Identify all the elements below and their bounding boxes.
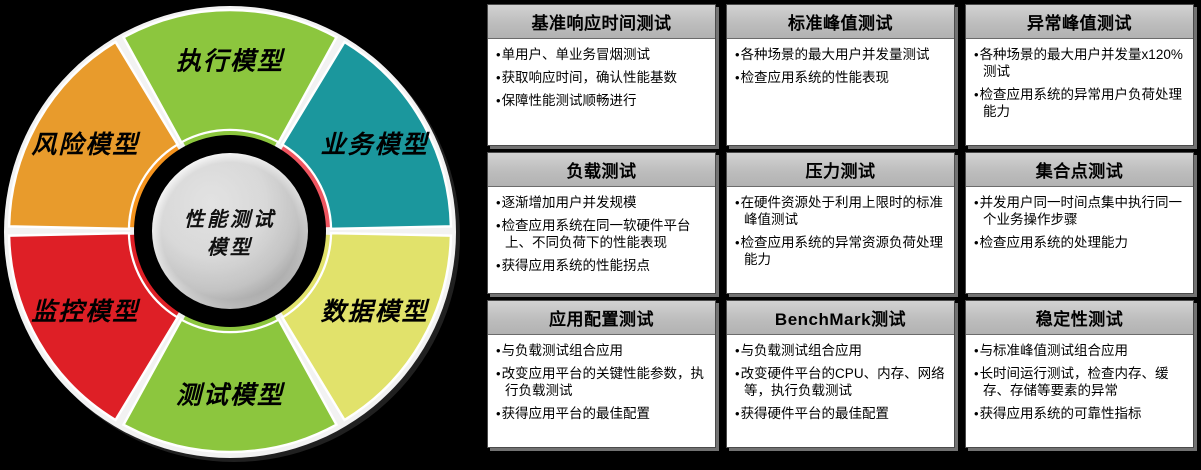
- donut-segment-label: 风险模型: [31, 131, 141, 159]
- card-body: 与负载测试组合应用改变应用平台的关键性能参数，执行负载测试获得应用平台的最佳配置: [488, 335, 715, 447]
- card-body: 各种场景的最大用户并发量x120%测试检查应用系统的异常用户负荷处理能力: [966, 39, 1193, 145]
- card-body: 在硬件资源处于利用上限时的标准峰值测试检查应用系统的异常资源负荷处理能力: [727, 187, 954, 293]
- card-title: BenchMark测试: [775, 305, 906, 330]
- core-label-line-1: 性能测试: [184, 208, 276, 231]
- donut-segment-label: 数据模型: [321, 298, 431, 326]
- card-header: BenchMark测试: [727, 301, 954, 335]
- card-bullet: 保障性能测试顺畅进行: [496, 92, 707, 109]
- card-bullet: 检查应用系统在同一软硬件平台上、不同负荷下的性能表现: [496, 217, 707, 251]
- card-title: 负载测试: [567, 157, 637, 182]
- card-header: 标准峰值测试: [727, 5, 954, 39]
- card-bullet: 获得应用平台的最佳配置: [496, 405, 707, 422]
- card-body: 单用户、单业务冒烟测试获取响应时间，确认性能基数保障性能测试顺畅进行: [488, 39, 715, 145]
- diagram-page: 性能测试 模型 执行模型业务模型数据模型测试模型监控模型风险模型 基准响应时间测…: [0, 0, 1201, 470]
- card-title: 基准响应时间测试: [532, 9, 672, 34]
- card-body: 逐渐增加用户并发规模检查应用系统在同一软硬件平台上、不同负荷下的性能表现获得应用…: [488, 187, 715, 293]
- card-title: 稳定性测试: [1036, 305, 1124, 330]
- card-bullet: 检查应用系统的性能表现: [735, 69, 946, 86]
- donut-core-shading: [152, 153, 308, 309]
- card-bullet: 逐渐增加用户并发规模: [496, 194, 707, 211]
- card-header: 集合点测试: [966, 153, 1193, 187]
- card-title: 标准峰值测试: [788, 9, 893, 34]
- card-bullet: 获取响应时间，确认性能基数: [496, 69, 707, 86]
- test-type-card[interactable]: 应用配置测试与负载测试组合应用改变应用平台的关键性能参数，执行负载测试获得应用平…: [487, 300, 716, 448]
- card-title: 应用配置测试: [549, 305, 654, 330]
- card-bullet: 获得应用系统的可靠性指标: [974, 405, 1185, 422]
- card-bullet: 检查应用系统的异常资源负荷处理能力: [735, 234, 946, 268]
- card-body: 与负载测试组合应用改变硬件平台的CPU、内存、网络等，执行负载测试获得硬件平台的…: [727, 335, 954, 447]
- card-bullet: 并发用户同一时间点集中执行同一个业务操作步骤: [974, 194, 1185, 228]
- core-label-line-2: 模型: [207, 236, 253, 259]
- test-type-card[interactable]: 集合点测试并发用户同一时间点集中执行同一个业务操作步骤检查应用系统的处理能力: [965, 152, 1194, 294]
- donut-svg: 性能测试 模型 执行模型业务模型数据模型测试模型监控模型风险模型: [0, 0, 470, 470]
- card-bullet: 检查应用系统的处理能力: [974, 234, 1185, 251]
- card-bullet: 在硬件资源处于利用上限时的标准峰值测试: [735, 194, 946, 228]
- donut-segment-label: 监控模型: [31, 298, 141, 326]
- card-bullet: 长时间运行测试，检查内存、缓存、存储等要素的异常: [974, 365, 1185, 399]
- donut-segment-label: 执行模型: [176, 48, 286, 76]
- card-header: 异常峰值测试: [966, 5, 1193, 39]
- card-header: 负载测试: [488, 153, 715, 187]
- performance-test-model-donut: 性能测试 模型 执行模型业务模型数据模型测试模型监控模型风险模型: [0, 0, 470, 470]
- test-type-card[interactable]: 压力测试在硬件资源处于利用上限时的标准峰值测试检查应用系统的异常资源负荷处理能力: [726, 152, 955, 294]
- card-title: 异常峰值测试: [1027, 9, 1132, 34]
- card-bullet: 与负载测试组合应用: [496, 342, 707, 359]
- test-type-card[interactable]: 异常峰值测试各种场景的最大用户并发量x120%测试检查应用系统的异常用户负荷处理…: [965, 4, 1194, 146]
- card-bullet: 改变应用平台的关键性能参数，执行负载测试: [496, 365, 707, 399]
- card-title: 集合点测试: [1036, 157, 1124, 182]
- card-bullet: 检查应用系统的异常用户负荷处理能力: [974, 86, 1185, 120]
- test-type-card-grid: 基准响应时间测试单用户、单业务冒烟测试获取响应时间，确认性能基数保障性能测试顺畅…: [487, 4, 1195, 466]
- test-type-card[interactable]: 标准峰值测试各种场景的最大用户并发量测试检查应用系统的性能表现: [726, 4, 955, 146]
- card-body: 并发用户同一时间点集中执行同一个业务操作步骤检查应用系统的处理能力: [966, 187, 1193, 293]
- card-bullet: 改变硬件平台的CPU、内存、网络等，执行负载测试: [735, 365, 946, 399]
- card-bullet: 单用户、单业务冒烟测试: [496, 46, 707, 63]
- test-type-card[interactable]: 负载测试逐渐增加用户并发规模检查应用系统在同一软硬件平台上、不同负荷下的性能表现…: [487, 152, 716, 294]
- card-title: 压力测试: [806, 157, 876, 182]
- test-type-card[interactable]: BenchMark测试与负载测试组合应用改变硬件平台的CPU、内存、网络等，执行…: [726, 300, 955, 448]
- test-type-card[interactable]: 基准响应时间测试单用户、单业务冒烟测试获取响应时间，确认性能基数保障性能测试顺畅…: [487, 4, 716, 146]
- donut-segment-label: 业务模型: [321, 131, 431, 159]
- card-body: 各种场景的最大用户并发量测试检查应用系统的性能表现: [727, 39, 954, 145]
- card-bullet: 与负载测试组合应用: [735, 342, 946, 359]
- card-body: 与标准峰值测试组合应用长时间运行测试，检查内存、缓存、存储等要素的异常获得应用系…: [966, 335, 1193, 447]
- donut-segment-label: 测试模型: [176, 382, 286, 410]
- card-bullet: 各种场景的最大用户并发量测试: [735, 46, 946, 63]
- card-bullet: 各种场景的最大用户并发量x120%测试: [974, 46, 1185, 80]
- card-bullet: 获得应用系统的性能拐点: [496, 257, 707, 274]
- card-bullet: 与标准峰值测试组合应用: [974, 342, 1185, 359]
- card-header: 稳定性测试: [966, 301, 1193, 335]
- card-header: 基准响应时间测试: [488, 5, 715, 39]
- card-header: 应用配置测试: [488, 301, 715, 335]
- card-bullet: 获得硬件平台的最佳配置: [735, 405, 946, 422]
- card-header: 压力测试: [727, 153, 954, 187]
- test-type-card[interactable]: 稳定性测试与标准峰值测试组合应用长时间运行测试，检查内存、缓存、存储等要素的异常…: [965, 300, 1194, 448]
